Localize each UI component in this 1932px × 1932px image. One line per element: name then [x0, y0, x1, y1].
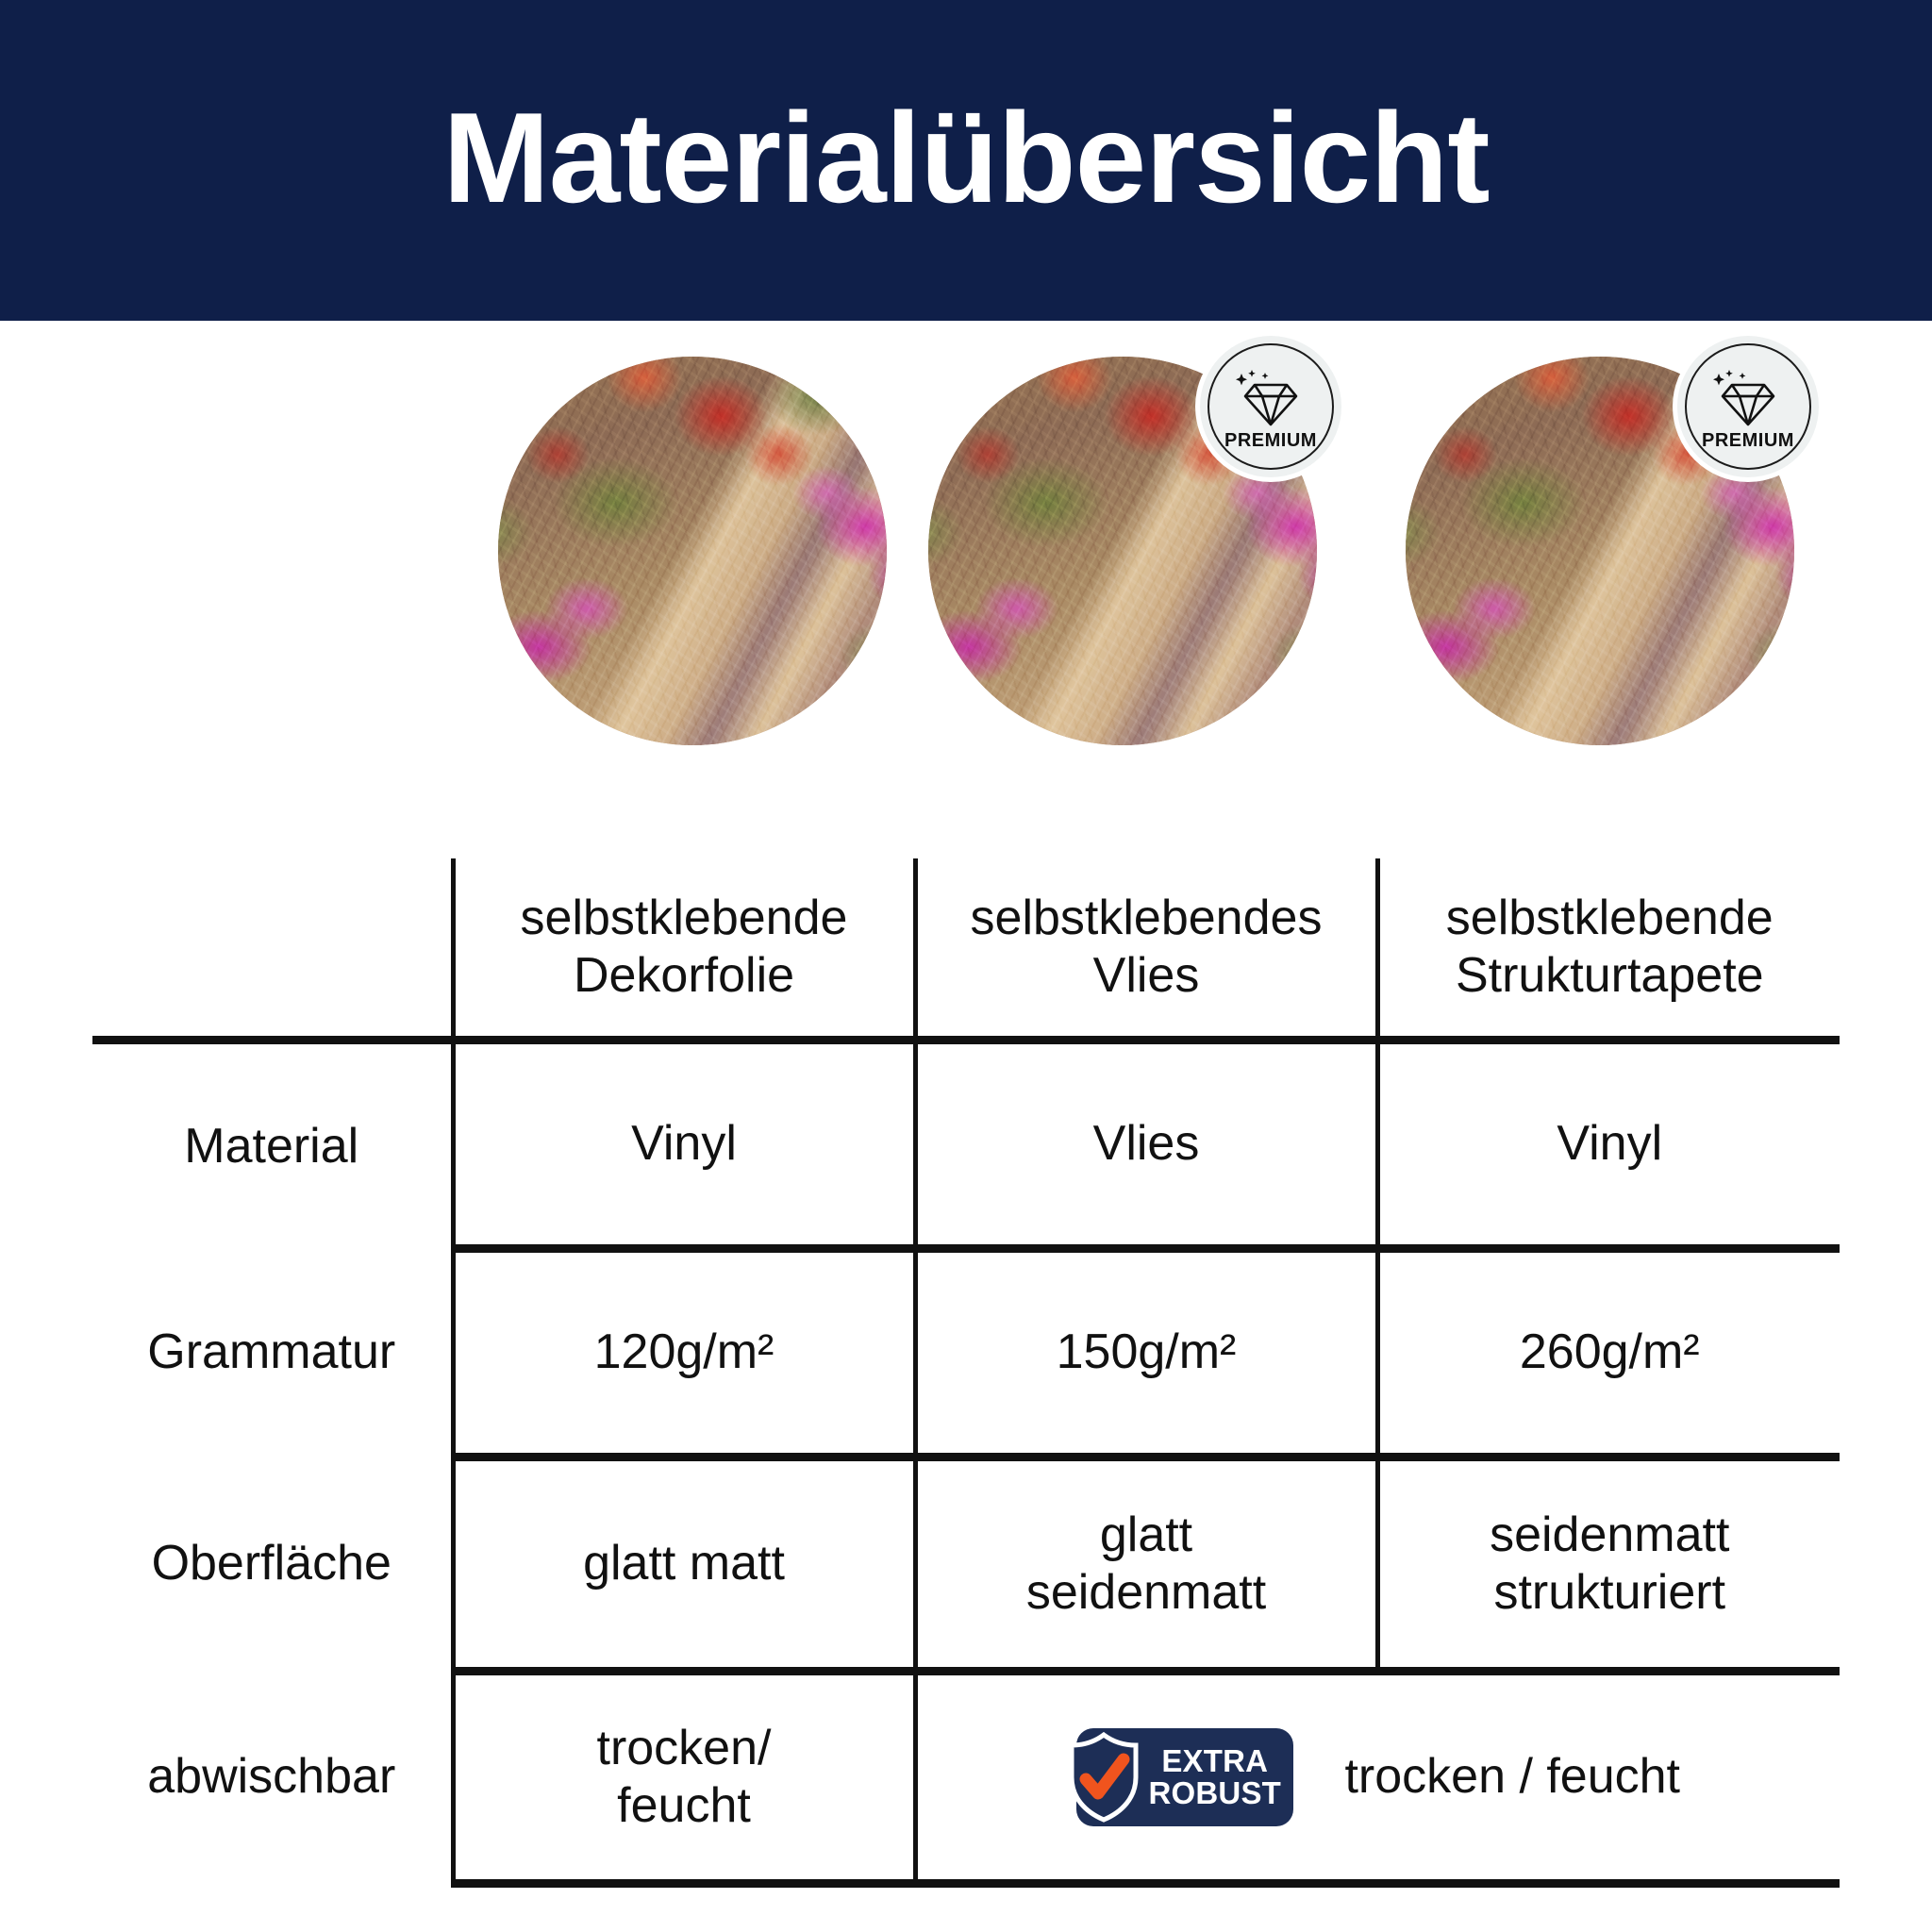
shield-check-icon: [1067, 1732, 1141, 1823]
extra-robust-line1: EXTRA: [1148, 1745, 1281, 1777]
table-header-row: selbstklebende Dekorfolie selbstklebende…: [92, 858, 1840, 1041]
extra-robust-badge: EXTRA ROBUST: [1076, 1728, 1293, 1826]
cell-oberflaeche-strukturtapete: seidenmattstrukturiert: [1377, 1457, 1840, 1672]
cell-abwischbar-merged: EXTRA ROBUST trocken / feucht: [915, 1672, 1840, 1884]
table-row-material: Material Vinyl Vlies Vinyl: [92, 1041, 1840, 1249]
page-title: Materialübersicht: [442, 93, 1489, 222]
material-swatch-vlies: PREMIUM: [928, 357, 1317, 745]
swatch-image-dekorfolie: [498, 357, 887, 745]
cell-oberflaeche-dekorfolie: glatt matt: [453, 1457, 915, 1672]
premium-badge-label: PREMIUM: [1702, 430, 1794, 452]
row-label-grammatur: Grammatur: [92, 1249, 453, 1457]
material-comparison-table-wrapper: selbstklebende Dekorfolie selbstklebende…: [92, 858, 1840, 1888]
premium-badge-label: PREMIUM: [1224, 430, 1317, 452]
premium-badge-vlies: PREMIUM: [1200, 336, 1341, 477]
header-cell-dekorfolie: selbstklebende Dekorfolie: [453, 858, 915, 1041]
extra-robust-label: EXTRA ROBUST: [1148, 1745, 1281, 1808]
row-label-oberflaeche: Oberfläche: [92, 1457, 453, 1672]
page-header: Materialübersicht: [0, 0, 1932, 321]
cell-material-vlies: Vlies: [915, 1041, 1377, 1249]
table-row-oberflaeche: Oberfläche glatt matt glattseidenmatt se…: [92, 1457, 1840, 1672]
cell-material-dekorfolie: Vinyl: [453, 1041, 915, 1249]
cell-abwischbar-dekorfolie: trocken/feucht: [453, 1672, 915, 1884]
row-label-abwischbar: abwischbar: [92, 1672, 453, 1884]
cell-oberflaeche-vlies: glattseidenmatt: [915, 1457, 1377, 1672]
material-swatch-strip: PREMIUM: [0, 321, 1932, 641]
material-swatch-dekorfolie: [498, 357, 887, 745]
cell-grammatur-strukturtapete: 260g/m²: [1377, 1249, 1840, 1457]
header-cell-blank: [92, 858, 453, 1041]
table-row-abwischbar: abwischbar trocken/feucht EXTRA ROBUST: [92, 1672, 1840, 1884]
cell-grammatur-dekorfolie: 120g/m²: [453, 1249, 915, 1457]
table-row-grammatur: Grammatur 120g/m² 150g/m² 260g/m²: [92, 1249, 1840, 1457]
diamond-icon: [1711, 370, 1785, 426]
header-cell-strukturtapete: selbstklebende Strukturtapete: [1377, 858, 1840, 1041]
cell-abwischbar-merged-text: trocken / feucht: [1344, 1748, 1680, 1806]
diamond-icon: [1234, 370, 1307, 426]
cell-material-strukturtapete: Vinyl: [1377, 1041, 1840, 1249]
premium-badge-strukturtapete: PREMIUM: [1677, 336, 1819, 477]
cell-grammatur-vlies: 150g/m²: [915, 1249, 1377, 1457]
header-cell-vlies: selbstklebendes Vlies: [915, 858, 1377, 1041]
extra-robust-line2: ROBUST: [1148, 1777, 1281, 1809]
material-swatch-strukturtapete: PREMIUM: [1406, 357, 1794, 745]
row-label-material: Material: [92, 1041, 453, 1249]
material-comparison-table: selbstklebende Dekorfolie selbstklebende…: [92, 858, 1840, 1888]
